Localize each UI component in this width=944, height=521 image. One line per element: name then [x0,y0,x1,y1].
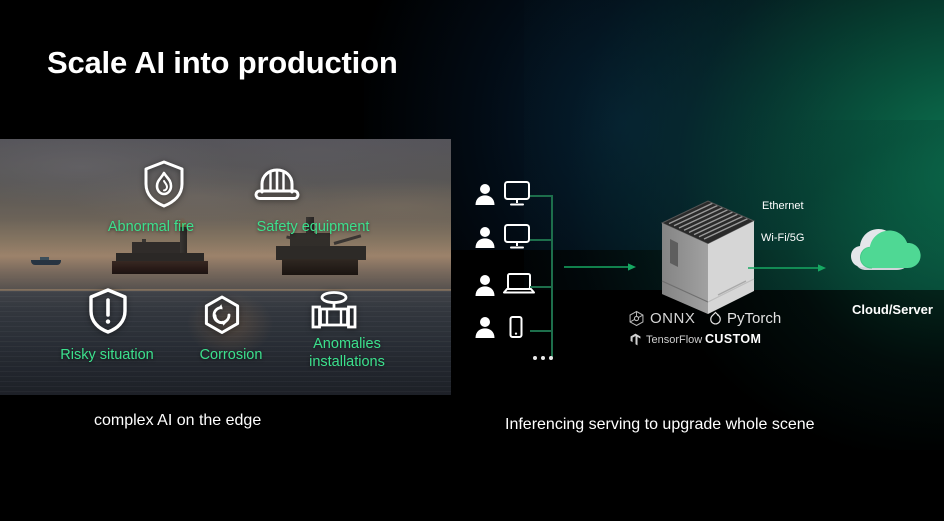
framework-tensorflow-label: TensorFlow [646,334,702,346]
smartphone-icon [508,315,524,339]
client-row-3 [474,272,536,298]
pipe-valve-icon [308,287,360,338]
edge-scene-photo: Abnormal fire Safety equipment Risky sit… [0,139,451,395]
left-panel-caption: complex AI on the edge [94,412,261,430]
laptop-icon [502,272,536,298]
framework-onnx-label: ONNX [650,310,695,327]
uplink-label-wifi-5g: Wi-Fi/5G [761,232,804,244]
detection-label-corrosion: Corrosion [168,347,294,363]
person-icon [474,273,496,297]
bus-vertical-line [551,195,553,358]
page-title: Scale AI into production [47,45,398,81]
pytorch-icon [709,311,722,327]
detection-label-risky-situation: Risky situation [33,347,181,363]
edge-to-cloud-arrow [748,263,830,273]
inference-architecture-diagram: ONNX PyTorch TensorFlow CUSTOM Ethernet … [460,150,944,400]
person-icon [474,225,496,249]
shield-flame-icon [141,159,187,214]
more-clients-indicator [533,356,553,360]
detection-label-anomalies-installations: Anomalies installations [287,335,407,371]
detection-label-safety-equipment: Safety equipment [231,219,395,235]
desktop-monitor-icon [502,180,532,208]
framework-tensorflow: TensorFlow [630,333,702,346]
client-row-2 [474,223,532,251]
shield-exclamation-icon [86,287,130,340]
edge-server-box-icon [650,195,768,320]
desktop-monitor-icon [502,223,532,251]
bus-stub-3 [530,286,552,288]
clients-to-edge-arrow [564,262,640,272]
slide-root: Scale AI into production Abnormal f [0,0,944,521]
right-panel-caption: Inferencing serving to upgrade whole sce… [505,416,815,434]
bus-stub-4 [530,330,552,332]
detection-label-abnormal-fire: Abnormal fire [76,219,226,235]
uplink-label-ethernet: Ethernet [762,200,804,212]
tensorflow-icon [630,333,641,346]
hex-nut-recycle-icon [200,294,244,343]
person-icon [474,315,496,339]
cloud-server-label: Cloud/Server [852,302,933,317]
framework-custom-label: CUSTOM [705,332,761,346]
onnx-icon [628,310,645,327]
framework-custom: CUSTOM [705,332,761,346]
framework-pytorch: PyTorch [709,310,781,327]
bus-stub-1 [530,195,552,197]
bus-stub-2 [530,239,552,241]
framework-pytorch-label: PyTorch [727,310,781,327]
client-row-4 [474,315,524,339]
client-row-1 [474,180,532,208]
framework-onnx: ONNX [628,310,695,327]
hard-hat-icon [252,164,302,211]
person-icon [474,182,496,206]
cloud-icon [844,218,930,290]
